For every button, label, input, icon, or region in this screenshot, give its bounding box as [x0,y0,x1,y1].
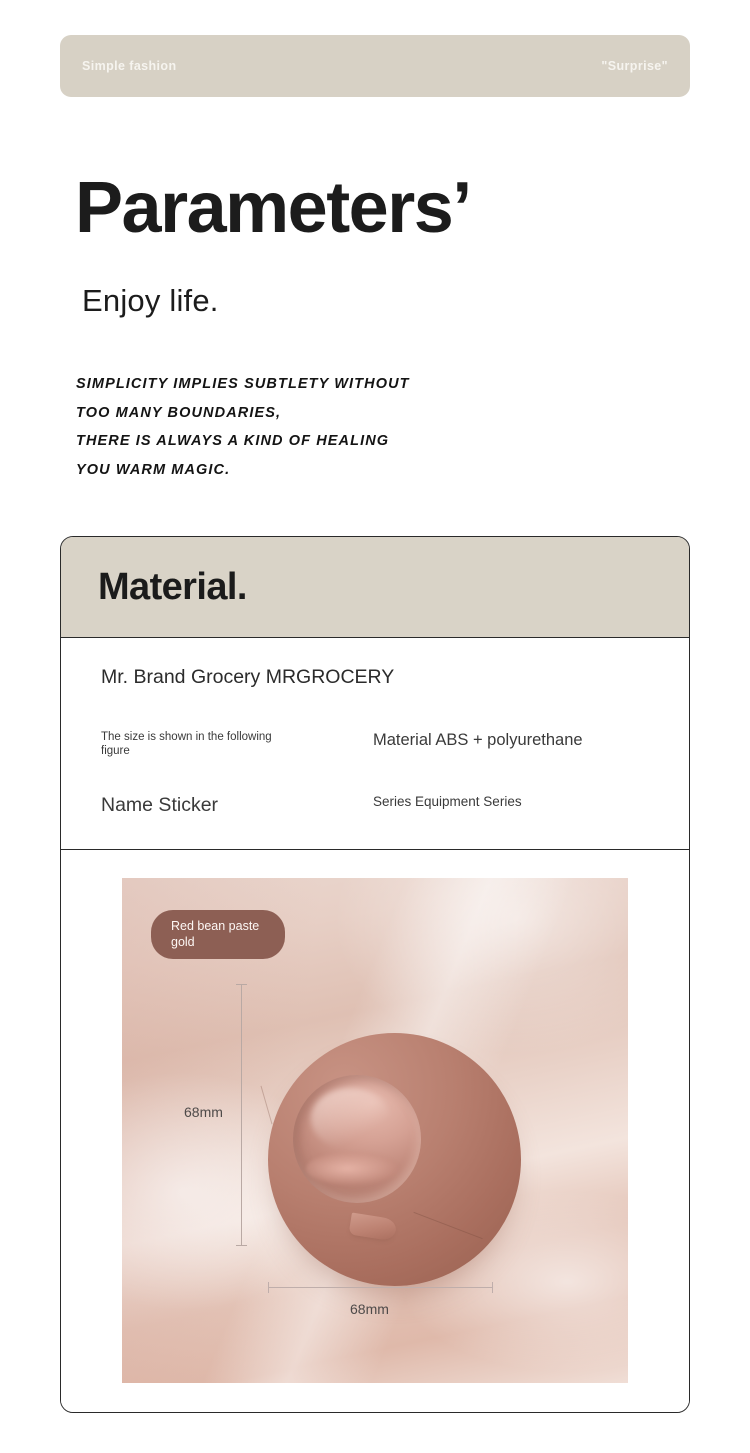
product-photo: Red bean paste gold 68mm 68mm [122,878,628,1383]
brand-name: Mr. Brand Grocery MRGROCERY [101,666,394,689]
spec-name-sticker: Name Sticker [101,793,218,817]
dimension-width-label: 68mm [350,1301,389,1317]
spec-series: Series Equipment Series [373,793,522,811]
product-sphere [268,1033,521,1286]
sphere-seam-line-left [261,1086,273,1125]
material-card: Material. Mr. Brand Grocery MRGROCERY Th… [60,536,690,1413]
opening-gloss-highlight [311,1088,390,1149]
product-photo-area: Red bean paste gold 68mm 68mm [61,850,689,1413]
banner-left-label: Simple fashion [82,59,177,73]
spec-size-note: The size is shown in the following figur… [101,730,291,758]
color-badge: Red bean paste gold [151,910,285,959]
top-banner: Simple fashion "Surprise" [60,35,690,97]
spec-table: Mr. Brand Grocery MRGROCERY The size is … [61,638,689,849]
banner-right-label: "Surprise" [601,59,668,73]
dimension-height-label: 68mm [184,1104,223,1120]
spec-material: Material ABS + polyurethane [373,730,583,750]
material-heading: Material. [98,566,247,609]
sphere-seam-line [413,1212,483,1240]
product-opening [293,1075,421,1203]
dimension-line-horizontal [268,1287,493,1288]
dimension-line-vertical [241,984,242,1246]
page-title: Parameters’ [75,172,471,244]
page-subtitle: Enjoy life. [82,283,219,319]
opening-inner-reflection [306,1152,398,1185]
tagline-text: SIMPLICITY IMPLIES SUBTLETY WITHOUT TOO … [76,370,410,484]
material-card-header: Material. [61,537,689,638]
